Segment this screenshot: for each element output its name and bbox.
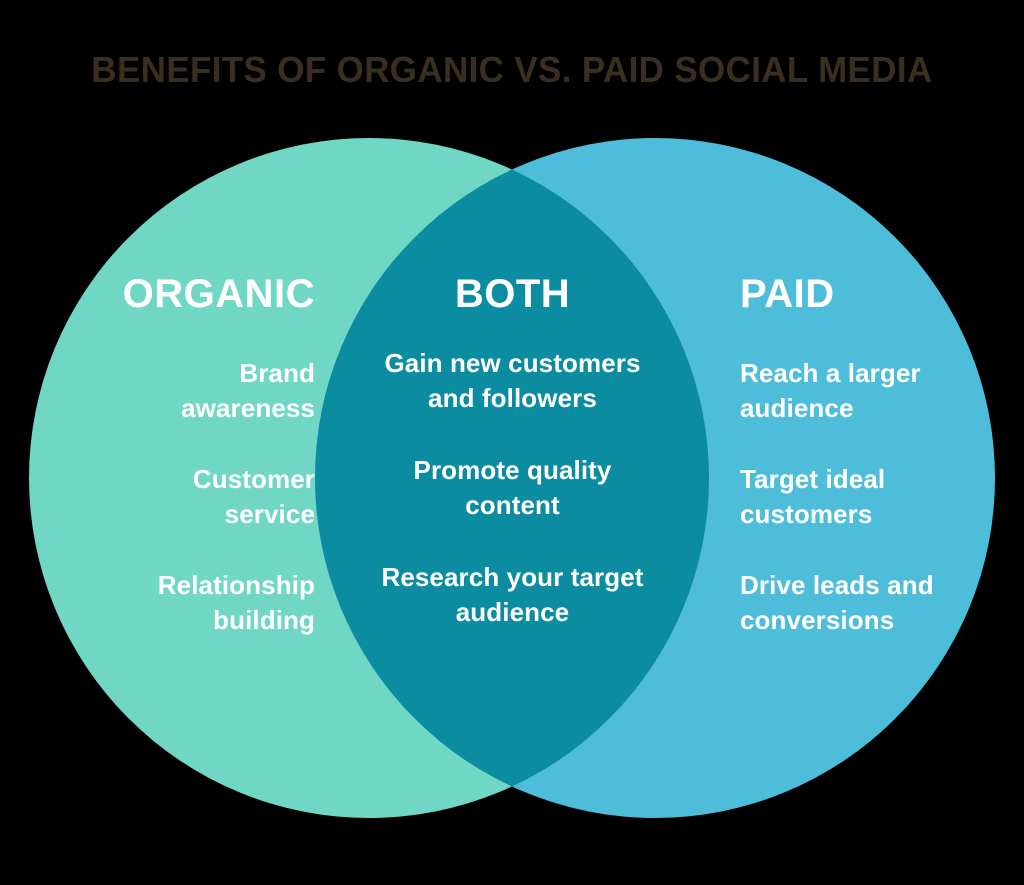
venn-zone-both: BOTH Gain new customers and followers Pr… [355,272,670,667]
venn-zone-organic: ORGANIC Brand awareness Customer service… [110,272,315,674]
zone-heading-paid: PAID [740,272,965,316]
item-line: audience [740,393,854,423]
item-line: service [225,499,315,529]
item-line: audience [456,597,570,627]
venn-text-layer: ORGANIC Brand awareness Customer service… [0,0,1024,885]
item-line: Target ideal [740,464,885,494]
item-line: customers [740,499,872,529]
zone-list-both: Gain new customers and followers Promote… [355,346,670,630]
item-line: building [213,605,315,635]
zone-heading-organic: ORGANIC [110,272,315,316]
item-line: awareness [181,393,315,423]
item-line: Reach a larger [740,358,921,388]
list-item: Promote quality content [355,453,670,523]
list-item: Reach a larger audience [740,356,965,426]
item-line: and followers [428,383,597,413]
item-line: Research your target [381,562,643,592]
list-item: Customer service [110,462,315,532]
item-line: Promote quality [414,455,612,485]
zone-heading-both: BOTH [355,272,670,316]
item-line: conversions [740,605,894,635]
venn-zone-paid: PAID Reach a larger audience Target idea… [740,272,965,674]
list-item: Research your target audience [355,560,670,630]
list-item: Relationship building [110,568,315,638]
list-item: Brand awareness [110,356,315,426]
item-line: Relationship [158,570,315,600]
list-item: Target ideal customers [740,462,965,532]
item-line: Brand [239,358,315,388]
item-line: Gain new customers [384,348,640,378]
list-item: Gain new customers and followers [355,346,670,416]
infographic-canvas: BENEFITS OF ORGANIC VS. PAID SOCIAL MEDI… [0,0,1024,885]
list-item: Drive leads and conversions [740,568,965,638]
zone-list-organic: Brand awareness Customer service Relatio… [110,356,315,638]
item-line: Drive leads and [740,570,934,600]
item-line: content [465,490,560,520]
item-line: Customer [193,464,315,494]
zone-list-paid: Reach a larger audience Target ideal cus… [740,356,965,638]
